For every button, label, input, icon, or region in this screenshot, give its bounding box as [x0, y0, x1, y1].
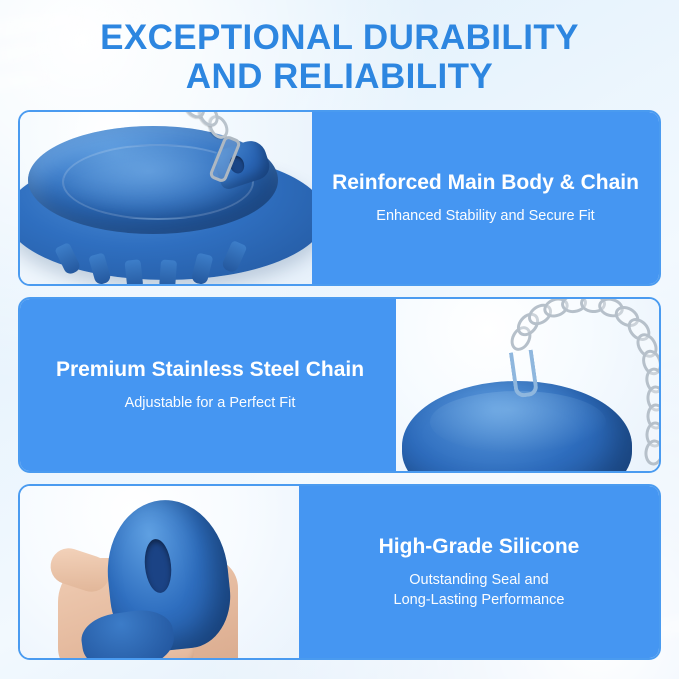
page-title: EXCEPTIONAL DURABILITY AND RELIABILITY — [0, 18, 679, 96]
headline-line-1: EXCEPTIONAL DURABILITY — [100, 18, 579, 57]
feature-1-image — [20, 112, 316, 284]
stopper-grip-hole — [142, 538, 174, 594]
feature-2-title: Premium Stainless Steel Chain — [56, 357, 364, 382]
feature-1-subtitle: Enhanced Stability and Secure Fit — [376, 207, 594, 227]
feature-3-title: High-Grade Silicone — [379, 534, 580, 559]
feature-3-image — [20, 486, 303, 658]
chain-link — [643, 439, 659, 467]
stopper-body-highlight — [430, 391, 606, 453]
feature-3-subtitle: Outstanding Seal and Long-Lasting Perfor… — [394, 571, 565, 610]
product-feature-infographic: EXCEPTIONAL DURABILITY AND RELIABILITY — [0, 0, 679, 679]
stopper-top-view-illustration — [20, 112, 316, 284]
hand-squeezing-stopper-illustration — [20, 486, 303, 658]
feature-3-subtitle-line-2: Long-Lasting Performance — [394, 592, 565, 608]
feature-card-2: Premium Stainless Steel Chain Adjustable… — [18, 297, 661, 473]
flange-rib — [124, 259, 143, 284]
feature-2-subtitle: Adjustable for a Perfect Fit — [125, 394, 296, 414]
feature-card-3: High-Grade Silicone Outstanding Seal and… — [18, 484, 661, 660]
chain-over-stopper-illustration — [396, 299, 659, 471]
headline-line-2: AND RELIABILITY — [0, 57, 679, 96]
feature-2-image — [396, 299, 659, 471]
feature-card-1: Reinforced Main Body & Chain Enhanced St… — [18, 110, 661, 286]
feature-3-text-panel: High-Grade Silicone Outstanding Seal and… — [299, 486, 659, 658]
flange-rib — [159, 259, 177, 284]
feature-3-subtitle-line-1: Outstanding Seal and — [409, 572, 548, 588]
feature-2-text-panel: Premium Stainless Steel Chain Adjustable… — [20, 299, 400, 471]
feature-1-title: Reinforced Main Body & Chain — [332, 170, 639, 195]
feature-1-text-panel: Reinforced Main Body & Chain Enhanced St… — [312, 112, 659, 284]
